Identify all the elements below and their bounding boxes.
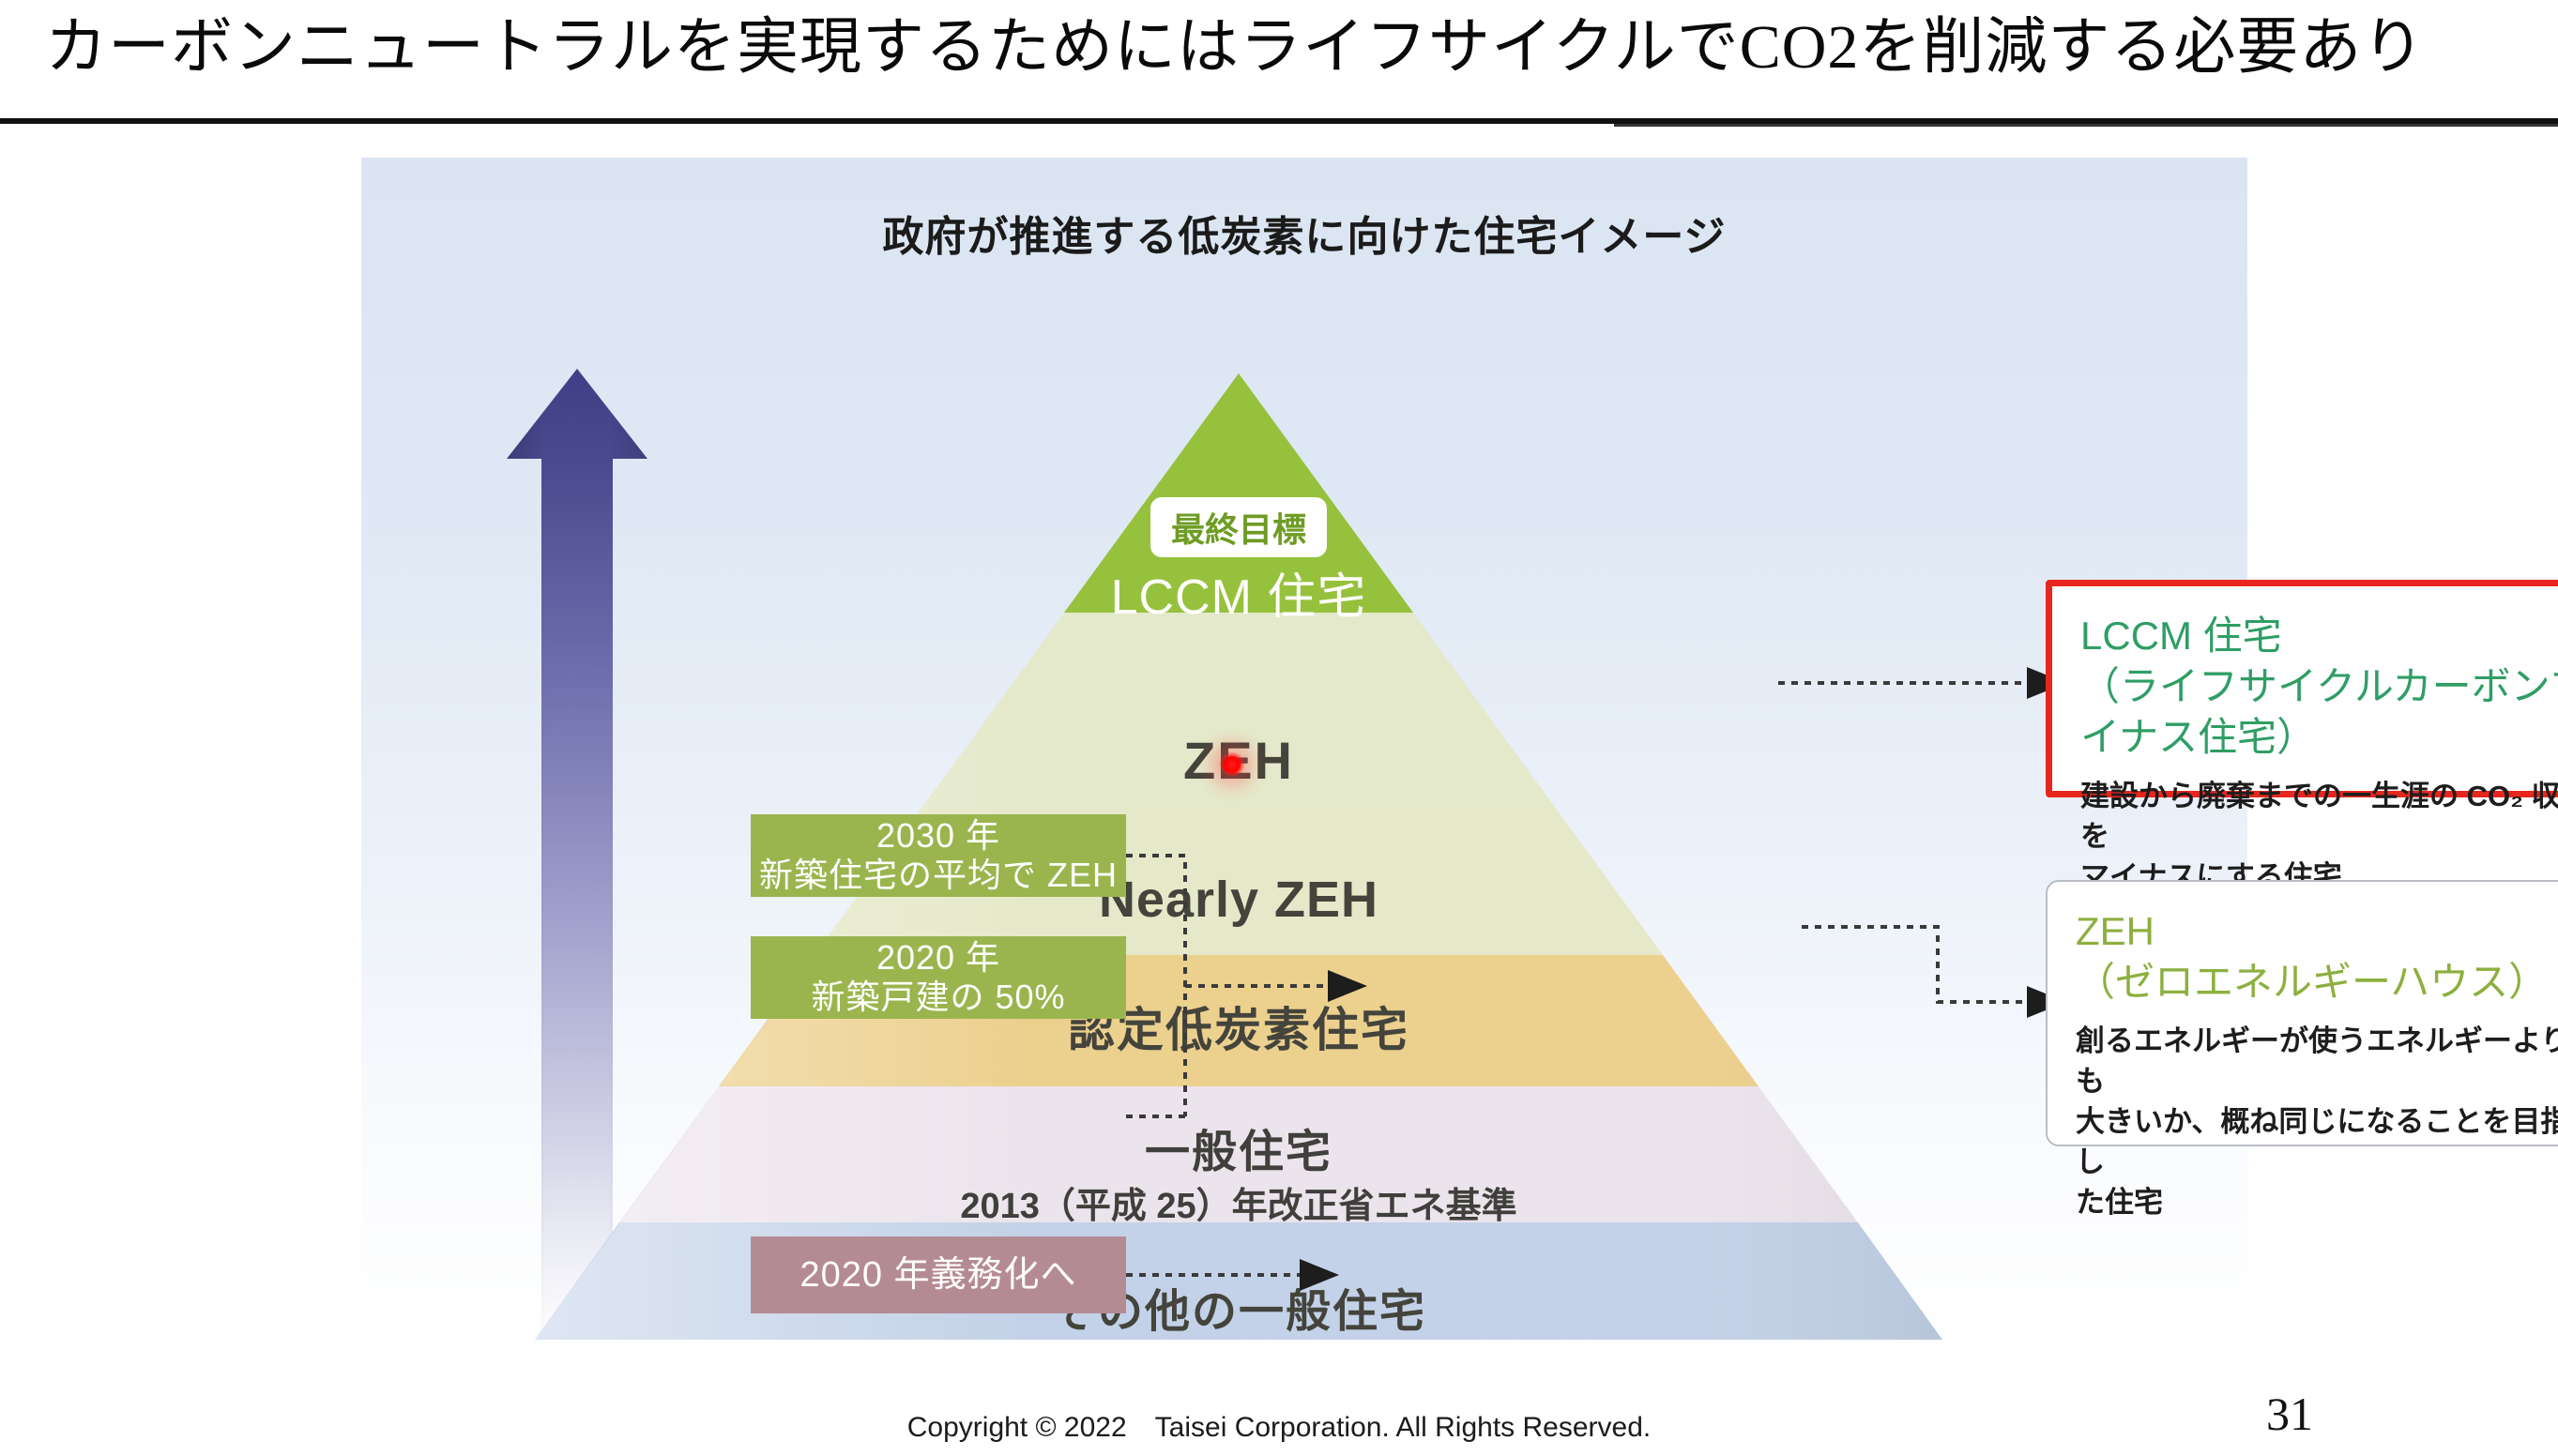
final-goal-badge: 最終目標	[1150, 497, 1327, 557]
page-title: カーボンニュートラルを実現するためにはライフサイクルでCO2を削減する必要あり	[45, 8, 2541, 88]
chip-target-2020[interactable]: 2020 年 新築戸建の 50%	[751, 936, 1126, 1019]
chip-target-2030[interactable]: 2030 年 新築住宅の平均で ZEH	[751, 814, 1126, 897]
footer-copyright: Copyright © 2022 Taisei Corporation. All…	[0, 1403, 2558, 1445]
description-box-zeh[interactable]: ZEH （ゼロエネルギーハウス） 創るエネルギーが使うエネルギーよりも 大きいか…	[2046, 880, 2558, 1146]
chip-2020-line2: 新築戸建の 50%	[811, 978, 1065, 1017]
figure-panel: 政府が推進する低炭素に向けた住宅イメージ	[361, 158, 2247, 1368]
desc-zeh-heading-line2: （ゼロエネルギーハウス）	[2076, 957, 2558, 1008]
desc-lccm-body-line1: 建設から廃棄までの一生涯の CO₂ 収支を	[2080, 776, 2558, 857]
figure-subtitle: 政府が推進する低炭素に向けた住宅イメージ	[361, 203, 2247, 263]
desc-zeh-body-line2: 大きいか、概ね同じになることを目指し	[2076, 1101, 2558, 1182]
chip-2030-line2: 新築住宅の平均で ZEH	[759, 856, 1118, 895]
chip-2020-line1: 2020 年	[876, 938, 1000, 978]
housing-pyramid: 最終目標 LCCM 住宅 ZEH Nearly ZEH 認定低炭素住宅 一般住宅…	[535, 373, 1942, 1340]
desc-lccm-heading-line2: （ライフサイクルカーボンマイナス住宅）	[2080, 661, 2558, 763]
chip-2030-line1: 2030 年	[876, 816, 1000, 856]
desc-lccm-heading-line1: LCCM 住宅	[2080, 611, 2558, 661]
red-laser-dot-icon	[1220, 752, 1244, 777]
chip-mandatory-line1: 2020 年義務化へ	[799, 1254, 1076, 1296]
desc-zeh-body-line1: 創るエネルギーが使うエネルギーよりも	[2076, 1021, 2558, 1101]
chip-mandatory-2020[interactable]: 2020 年義務化へ	[751, 1236, 1126, 1313]
desc-zeh-heading-line1: ZEH	[2076, 906, 2558, 957]
description-box-lccm[interactable]: LCCM 住宅 （ライフサイクルカーボンマイナス住宅） 建設から廃棄までの一生涯…	[2046, 580, 2558, 797]
title-divider-secondary	[1614, 124, 2558, 127]
page-number: 31	[2233, 1387, 2346, 1441]
desc-zeh-body-line3: た住宅	[2076, 1182, 2558, 1222]
